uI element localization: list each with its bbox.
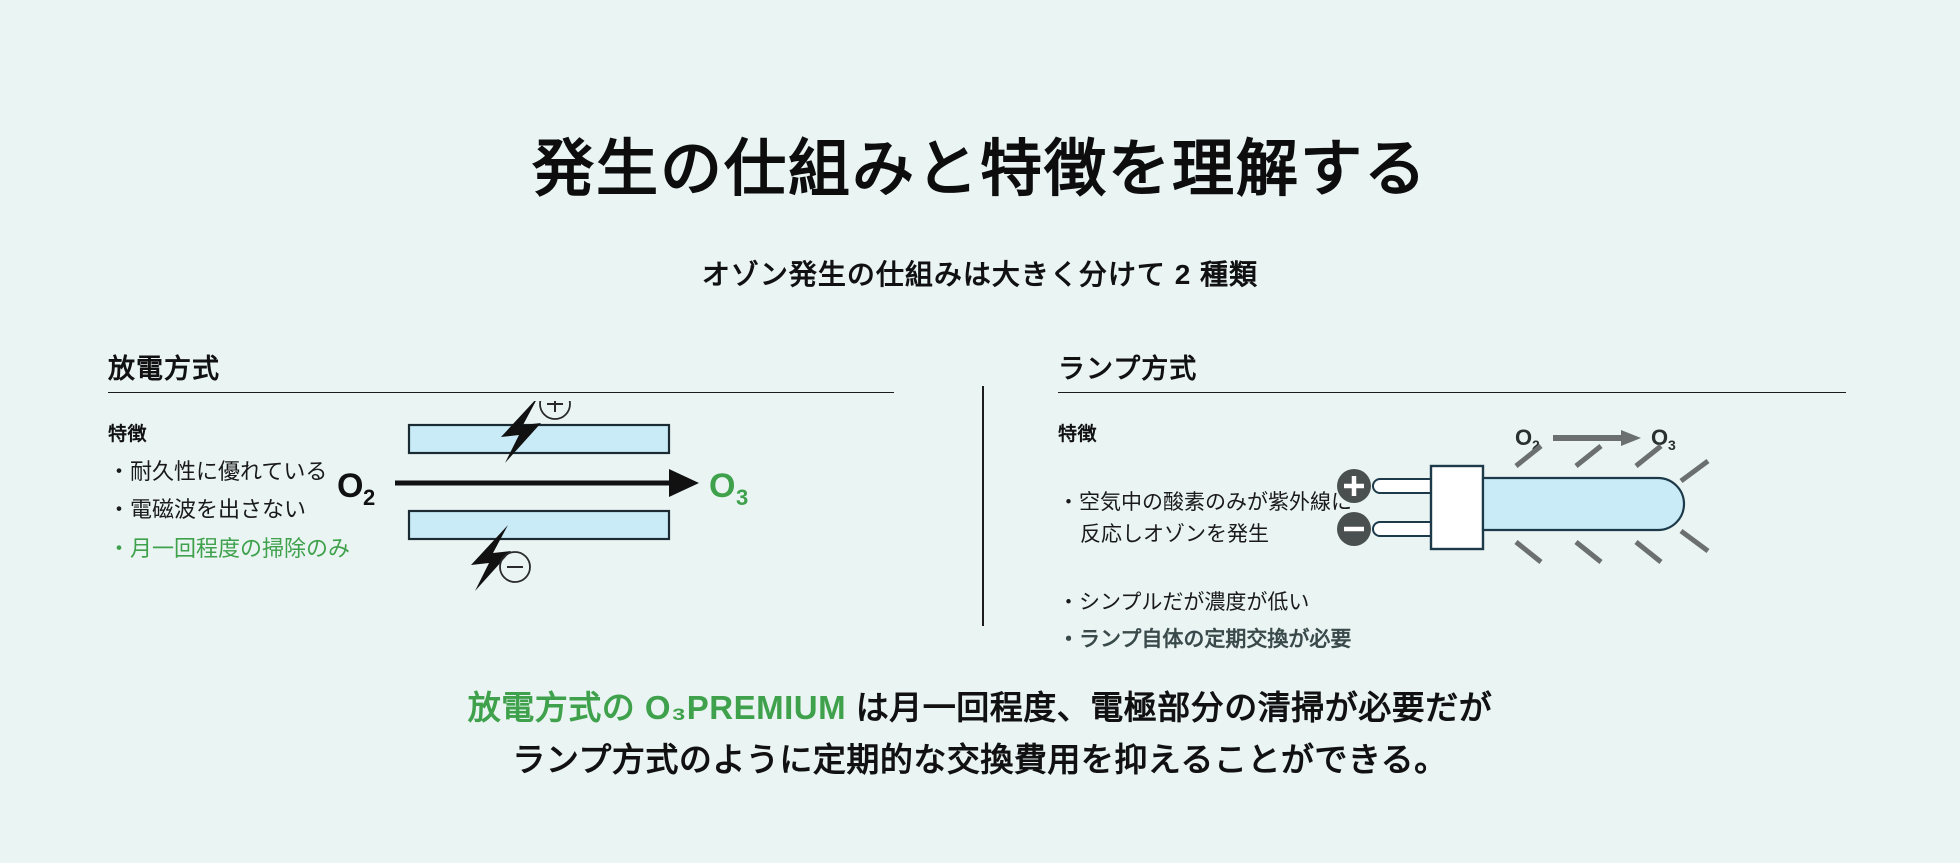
conclusion-rest: は月一回程度、電極部分の清掃が必要だが — [846, 689, 1492, 726]
conclusion-highlight: 放電方式の O₃PREMIUM — [468, 689, 846, 726]
diagram-uv-lamp: O 2 O 3 — [1333, 409, 1833, 609]
panel-lamp: ランプ方式 特徴 ・空気中の酸素のみが紫外線に 反応しオゾンを発生 ・シンプルだ… — [1058, 355, 1846, 619]
panel-rule-lamp — [1058, 392, 1846, 393]
panel-heading-discharge: 放電方式 — [108, 355, 894, 385]
terminal-positive-icon — [1337, 469, 1371, 503]
list-item-line1: ・空気中の酸素のみが紫外線に — [1058, 491, 1352, 514]
slide-canvas: 発生の仕組みと特徴を理解する オゾン発生の仕組みは大きく分けて 2 種類 放電方… — [0, 0, 1960, 863]
list-item: ・ランプ自体の定期交換が必要 — [1058, 624, 1846, 656]
panel-body-lamp: 特徴 ・空気中の酸素のみが紫外線に 反応しオゾンを発生 ・シンプルだが濃度が低い… — [1058, 419, 1846, 619]
electrode-negative-icon — [500, 552, 530, 582]
uv-ray-icon — [1516, 531, 1708, 562]
svg-text:3: 3 — [1668, 437, 1676, 453]
svg-text:2: 2 — [363, 485, 375, 510]
svg-text:O: O — [337, 467, 363, 505]
vertical-divider — [982, 386, 984, 626]
conclusion-text: 放電方式の O₃PREMIUM は月一回程度、電極部分の清掃が必要だが ランプ方… — [0, 682, 1960, 786]
svg-text:3: 3 — [736, 485, 748, 510]
uv-ray-icon — [1516, 446, 1708, 481]
page-title: 発生の仕組みと特徴を理解する — [0, 134, 1960, 205]
terminal-negative-icon — [1337, 512, 1371, 546]
svg-text:O: O — [709, 467, 735, 505]
electrode-positive-icon — [540, 401, 570, 419]
panel-rule-discharge — [108, 392, 894, 393]
page-subtitle: オゾン発生の仕組みは大きく分けて 2 種類 — [0, 253, 1960, 293]
conclusion-line-2: ランプ方式のように定期的な交換費用を抑えることができる。 — [0, 734, 1960, 786]
diagram-discharge-cell: O 2 O 3 — [333, 401, 898, 601]
panel-body-discharge: 特徴 ・耐久性に優れている ・電磁波を出さない ・月一回程度の掃除のみ O 2 — [108, 419, 894, 619]
panel-heading-lamp: ランプ方式 — [1058, 355, 1846, 385]
conclusion-line-1: 放電方式の O₃PREMIUM は月一回程度、電極部分の清掃が必要だが — [0, 682, 1960, 734]
panel-discharge: 放電方式 特徴 ・耐久性に優れている ・電磁波を出さない ・月一回程度の掃除のみ… — [108, 355, 894, 619]
svg-text:O: O — [1515, 425, 1532, 450]
